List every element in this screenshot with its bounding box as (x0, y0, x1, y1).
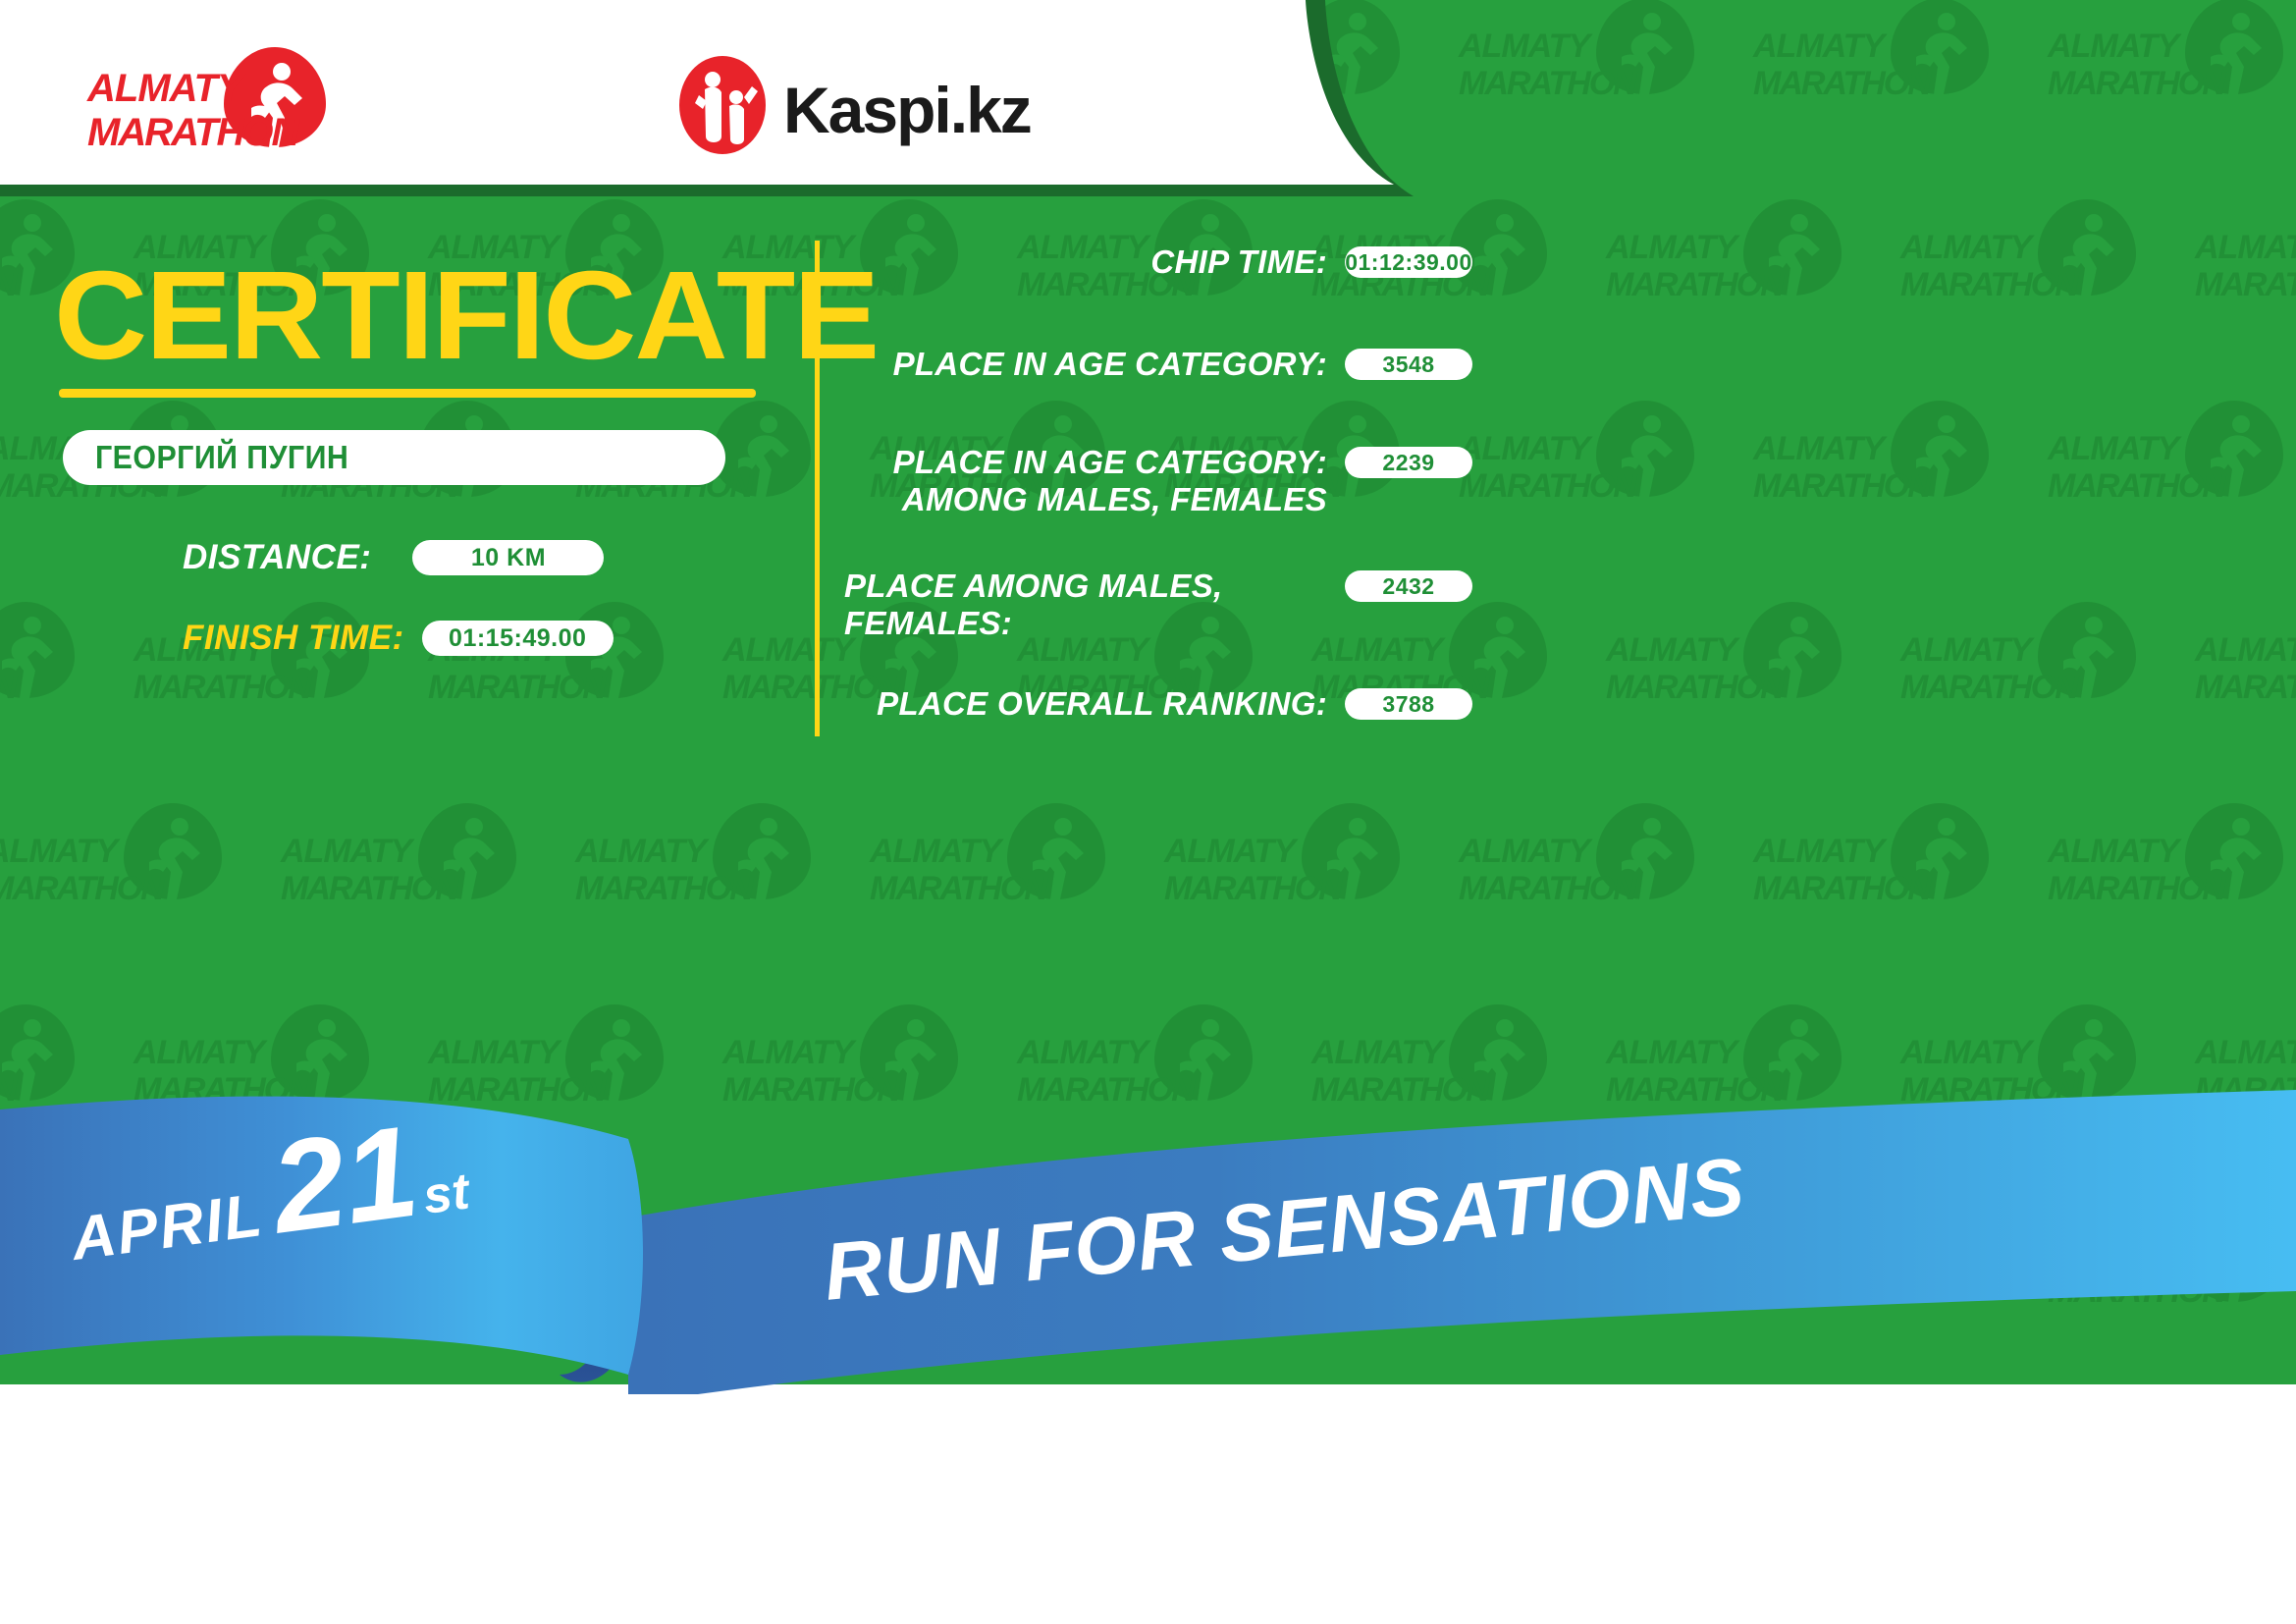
marathon-text: MARATHON (87, 111, 300, 154)
watermark-tile: ALMATYMARATHON (2042, 0, 2296, 182)
svg-text:ALMATY: ALMATY (1458, 430, 1593, 467)
svg-text:MARATHON: MARATHON (2048, 467, 2227, 505)
svg-text:ALMATY: ALMATY (2047, 430, 2182, 467)
svg-text:ALMATY: ALMATY (1605, 631, 1740, 669)
certificate-page: ALMATYMARATHONALMATYMARATHONALMATYMARATH… (0, 0, 2296, 1624)
kaspi-logo-text: Kaspi.kz (783, 74, 1031, 146)
place-overall-value: 3788 (1345, 688, 1472, 720)
svg-text:MARATHON: MARATHON (1606, 669, 1786, 706)
watermark-tile: ALMATYMARATHON (1895, 584, 2189, 785)
svg-text:ALMATY: ALMATY (869, 833, 1004, 870)
distance-label: DISTANCE: (183, 538, 371, 577)
svg-text:ALMATY: ALMATY (574, 833, 710, 870)
almaty-text: ALMATY (86, 67, 246, 110)
svg-text:MARATHON: MARATHON (0, 870, 166, 907)
svg-text:ALMATY: ALMATY (1899, 631, 2035, 669)
vertical-divider (815, 241, 820, 736)
svg-text:ALMATY: ALMATY (2194, 631, 2296, 669)
place-age-category-gender-value: 2239 (1345, 447, 1472, 478)
svg-text:ALMATY: ALMATY (1605, 1034, 1740, 1071)
svg-text:ALMATY: ALMATY (1752, 27, 1888, 65)
label-line-2: FEMALES: (844, 605, 1327, 642)
label-line-1: PLACE AMONG MALES, (844, 568, 1327, 605)
almaty-marathon-logo: ALMATY MARATHON (82, 39, 377, 155)
watermark-tile: ALMATYMARATHON (2042, 383, 2296, 584)
finish-time-value: 01:15:49.00 (422, 621, 614, 656)
svg-text:ALMATY: ALMATY (721, 1034, 857, 1071)
svg-text:MARATHON: MARATHON (1164, 870, 1344, 907)
watermark-tile: ALMATYMARATHON (275, 785, 569, 987)
kaspi-logo-svg: Kaspi.kz (677, 54, 1070, 157)
svg-text:ALMATY: ALMATY (133, 1034, 268, 1071)
place-among-gender-label: PLACE AMONG MALES, FEMALES: (844, 568, 1345, 642)
participant-name-value: ГЕОРГИЙ ПУГИН (95, 439, 348, 476)
svg-text:ALMATY: ALMATY (1605, 229, 1740, 266)
svg-text:MARATHON: MARATHON (2048, 870, 2227, 907)
svg-text:ALMATY: ALMATY (2047, 27, 2182, 65)
svg-text:ALMATY: ALMATY (1899, 1034, 2035, 1071)
watermark-tile: ALMATYMARATHON (1453, 383, 1747, 584)
title-underline (59, 389, 756, 398)
svg-text:ALMATY: ALMATY (280, 833, 415, 870)
svg-text:MARATHON: MARATHON (1459, 467, 1638, 505)
svg-text:ALMATY: ALMATY (1752, 430, 1888, 467)
svg-text:MARATHON: MARATHON (1900, 669, 2080, 706)
almaty-marathon-logo-svg: ALMATY MARATHON (82, 39, 377, 155)
watermark-tile: ALMATYMARATHON (1895, 182, 2189, 383)
svg-text:MARATHON: MARATHON (1753, 467, 1933, 505)
sponsors-bar (0, 1394, 2296, 1624)
svg-text:MARATHON: MARATHON (2048, 65, 2227, 102)
finish-time-row: FINISH TIME: 01:15:49.00 (183, 619, 614, 658)
watermark-tile: ALMATYMARATHON (2189, 584, 2296, 785)
result-row-place-age-category: PLACE IN AGE CATEGORY: 3548 (844, 346, 1472, 383)
svg-text:ALMATY: ALMATY (1899, 229, 2035, 266)
svg-text:MARATHON: MARATHON (1606, 266, 1786, 303)
watermark-tile: ALMATYMARATHON (1747, 383, 2042, 584)
watermark-tile: ALMATYMARATHON (1600, 182, 1895, 383)
label-line-1: PLACE IN AGE CATEGORY: (844, 444, 1327, 481)
svg-text:MARATHON: MARATHON (1459, 870, 1638, 907)
finish-time-label: FINISH TIME: (183, 619, 404, 658)
place-age-category-label: PLACE IN AGE CATEGORY: (844, 346, 1345, 383)
result-row-place-age-category-gender: PLACE IN AGE CATEGORY: AMONG MALES, FEMA… (844, 444, 1472, 518)
svg-text:ALMATY: ALMATY (1163, 833, 1299, 870)
watermark-tile: ALMATYMARATHON (0, 785, 275, 987)
svg-text:ALMATY: ALMATY (721, 631, 857, 669)
label-line-2: AMONG MALES, FEMALES (844, 481, 1327, 518)
distance-row: DISTANCE: 10 KM (183, 538, 604, 577)
svg-text:MARATHON: MARATHON (1753, 870, 1933, 907)
svg-text:MARATHON: MARATHON (133, 669, 313, 706)
watermark-tile: ALMATYMARATHON (422, 584, 717, 785)
watermark-tile: ALMATYMARATHON (2042, 785, 2296, 987)
svg-text:ALMATY: ALMATY (1458, 27, 1593, 65)
watermark-tile: ALMATYMARATHON (864, 785, 1158, 987)
svg-text:ALMATY: ALMATY (1310, 1034, 1446, 1071)
result-row-place-among-gender: PLACE AMONG MALES, FEMALES: 2432 (844, 568, 1472, 642)
svg-text:MARATHON: MARATHON (281, 870, 460, 907)
svg-text:MARATHON: MARATHON (575, 870, 755, 907)
svg-text:ALMATY: ALMATY (0, 833, 121, 870)
svg-text:ALMATY: ALMATY (1016, 1034, 1151, 1071)
place-age-category-gender-label: PLACE IN AGE CATEGORY: AMONG MALES, FEMA… (844, 444, 1345, 518)
event-day: 21 (266, 1118, 422, 1240)
place-among-gender-value: 2432 (1345, 570, 1472, 602)
svg-text:ALMATY: ALMATY (2194, 229, 2296, 266)
svg-text:MARATHON: MARATHON (870, 870, 1049, 907)
result-row-place-overall: PLACE OVERALL RANKING: 3788 (844, 685, 1472, 723)
watermark-tile: ALMATYMARATHON (1747, 0, 2042, 182)
watermark-tile: ALMATYMARATHON (2189, 182, 2296, 383)
watermark-tile: ALMATYMARATHON (1600, 584, 1895, 785)
page-title: CERTIFICATE (54, 253, 878, 379)
watermark-tile: ALMATYMARATHON (1158, 785, 1453, 987)
place-age-category-value: 3548 (1345, 349, 1472, 380)
watermark-tile: ALMATYMARATHON (0, 584, 128, 785)
two-people-circle-icon (679, 56, 766, 154)
watermark-tile: ALMATYMARATHON (1747, 785, 2042, 987)
watermark-tile: ALMATYMARATHON (128, 584, 422, 785)
chip-time-label: CHIP TIME: (844, 244, 1345, 281)
svg-text:MARATHON: MARATHON (1459, 65, 1638, 102)
watermark-tile: ALMATYMARATHON (569, 785, 864, 987)
svg-text:ALMATY: ALMATY (1458, 833, 1593, 870)
svg-text:MARATHON: MARATHON (1753, 65, 1933, 102)
kaspi-logo: Kaspi.kz (677, 54, 1070, 157)
participant-name-field: ГЕОРГИЙ ПУГИН (63, 430, 725, 485)
svg-text:ALMATY: ALMATY (1752, 833, 1888, 870)
watermark-tile: ALMATYMARATHON (1453, 785, 1747, 987)
svg-text:MARATHON: MARATHON (2195, 266, 2296, 303)
svg-text:ALMATY: ALMATY (427, 1034, 562, 1071)
chip-time-value: 01:12:39.00 (1345, 246, 1472, 278)
result-row-chip-time: CHIP TIME: 01:12:39.00 (844, 244, 1472, 281)
distance-value: 10 KM (412, 540, 604, 575)
svg-text:MARATHON: MARATHON (428, 669, 608, 706)
svg-text:ALMATY: ALMATY (2047, 833, 2182, 870)
place-overall-label: PLACE OVERALL RANKING: (844, 685, 1345, 723)
watermark-tile: ALMATYMARATHON (1453, 0, 1747, 182)
svg-text:MARATHON: MARATHON (1900, 266, 2080, 303)
svg-text:ALMATY: ALMATY (2194, 1034, 2296, 1071)
svg-text:MARATHON: MARATHON (2195, 669, 2296, 706)
event-day-suffix: st (420, 1162, 473, 1226)
